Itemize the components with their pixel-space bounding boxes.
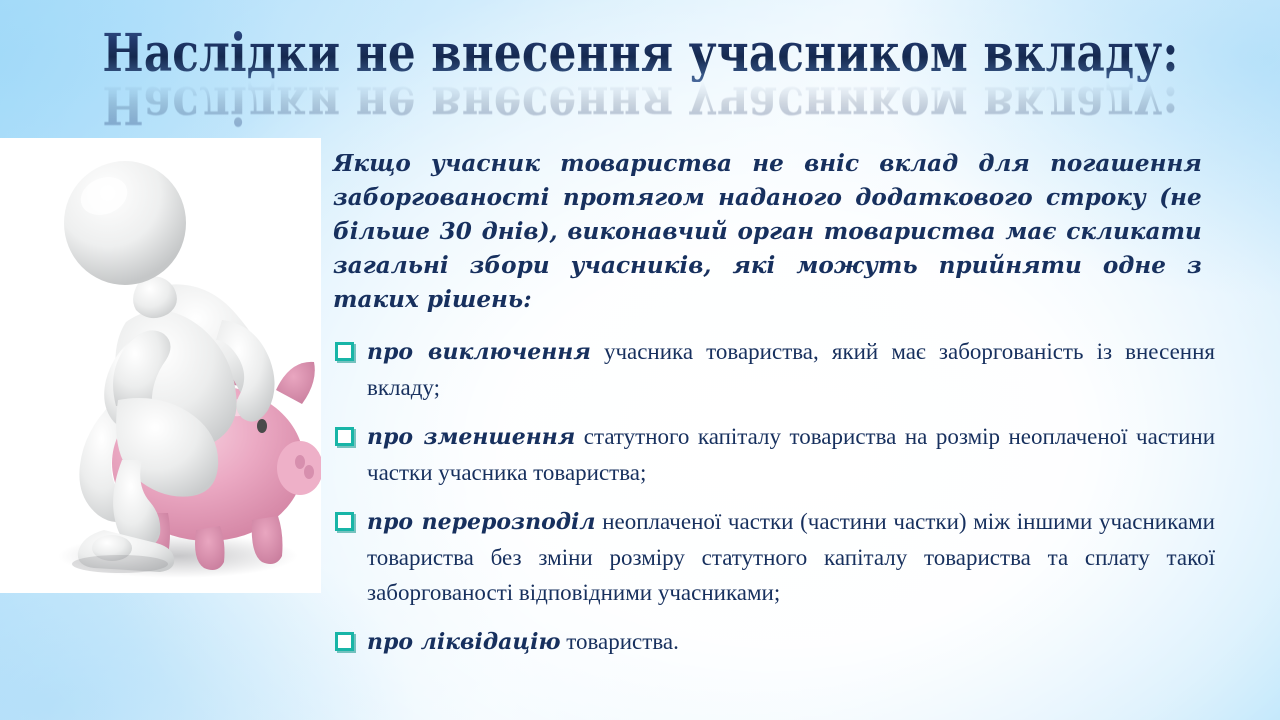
content-column: Якщо учасник товариства не вніс вклад дл… [333, 146, 1215, 660]
list-item-lead: про ліквідацію [367, 629, 560, 655]
checkbox-square-icon [335, 342, 354, 361]
slide: Наслідки не внесення учасником вкладу: Н… [0, 0, 1280, 720]
page-title: Наслідки не внесення учасником вкладу: [102, 26, 1177, 82]
illustration-panel [0, 138, 321, 593]
list-item: про виключення учасника товариства, який… [333, 334, 1215, 405]
list-item: про перерозподіл неоплаченої частки (час… [333, 504, 1215, 610]
thinker-on-piggy-bank-icon [0, 138, 321, 593]
list-item-lead: про виключення [367, 339, 591, 365]
list-item-rest: товариства. [560, 629, 678, 654]
list-item: про зменшення статутного капіталу товари… [333, 419, 1215, 490]
list-item-lead: про перерозподіл [367, 509, 596, 535]
checkbox-square-icon [335, 512, 354, 531]
list-item-lead: про зменшення [367, 424, 575, 450]
intro-paragraph: Якщо учасник товариства не вніс вклад дл… [333, 146, 1202, 316]
page-title-reflection: Наслідки не внесення учасником вкладу: [102, 76, 1177, 132]
checkbox-square-icon [335, 632, 354, 651]
slide-title-block: Наслідки не внесення учасником вкладу: Н… [0, 26, 1280, 136]
decisions-list: про виключення учасника товариства, який… [333, 334, 1215, 660]
list-item: про ліквідацію товариства. [333, 624, 1215, 660]
checkbox-square-icon [335, 427, 354, 446]
